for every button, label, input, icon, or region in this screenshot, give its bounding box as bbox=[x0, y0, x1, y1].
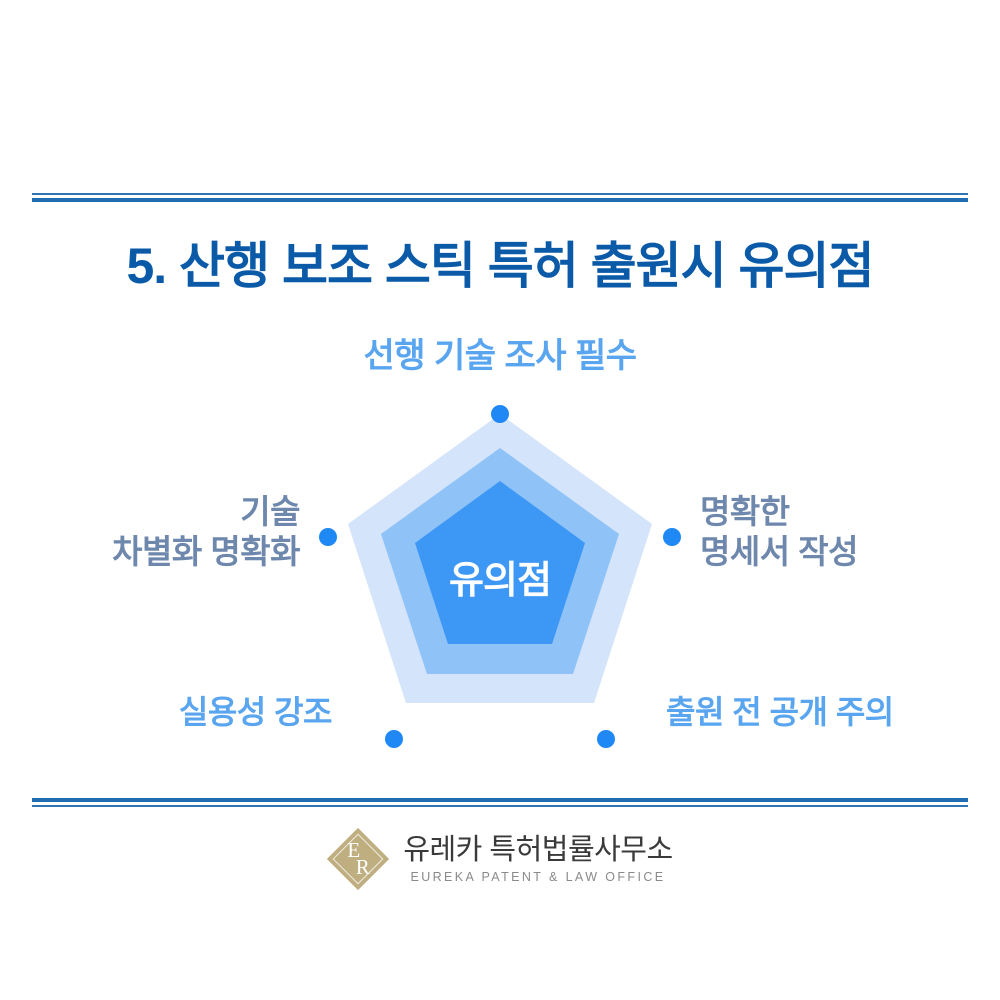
firm-name-english: EUREKA PATENT & LAW OFFICE bbox=[410, 870, 665, 884]
page-title: 5. 산행 보조 스틱 특허 출원시 유의점 bbox=[0, 226, 1000, 298]
node-label-bottom-left: 실용성 강조 bbox=[20, 693, 332, 732]
pentagon-vertex-dot-top bbox=[491, 405, 509, 423]
logo-monogram-letter-r: R bbox=[356, 859, 370, 876]
node-label-bottom-right: 출원 전 공개 주의 bbox=[666, 693, 978, 732]
node-label-right: 명확한 명세서 작성 bbox=[700, 492, 990, 573]
divider-bottom-thin-rule bbox=[32, 805, 968, 807]
pentagon-vertex-dot-bottom-right bbox=[597, 730, 615, 748]
slide-canvas: 5. 산행 보조 스틱 특허 출원시 유의점 유의점 선행 기술 조사 필수 명… bbox=[0, 0, 1000, 1000]
diamond-logo-icon: E R bbox=[327, 828, 389, 890]
logo-monogram: E R bbox=[327, 828, 389, 890]
pentagon-vertex-dot-left bbox=[319, 528, 337, 546]
node-label-top: 선행 기술 조사 필수 bbox=[0, 336, 1000, 377]
divider-top-thick-rule bbox=[32, 198, 968, 202]
firm-name-korean: 유레카 특허법률사무소 bbox=[403, 834, 672, 867]
footer-logo: E R 유레카 특허법률사무소 EUREKA PATENT & LAW OFFI… bbox=[0, 828, 1000, 890]
pentagon-vertex-dot-bottom-left bbox=[385, 730, 403, 748]
pentagon-vertex-dot-right bbox=[663, 528, 681, 546]
logo-text-block: 유레카 특허법률사무소 EUREKA PATENT & LAW OFFICE bbox=[403, 834, 672, 884]
divider-bottom bbox=[32, 798, 968, 807]
divider-top bbox=[32, 193, 968, 202]
node-label-left: 기술 차별화 명확화 bbox=[20, 492, 300, 573]
